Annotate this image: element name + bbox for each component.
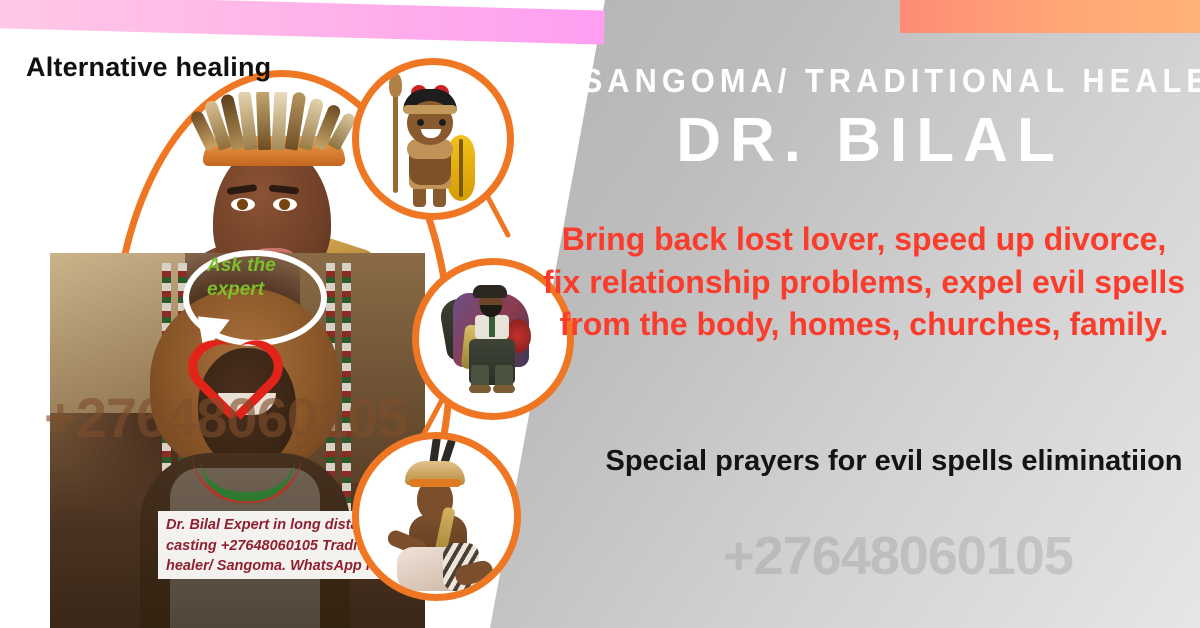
crouching-dancer-icon — [359, 439, 514, 594]
contact-watermark-phone: +27648060105 — [600, 525, 1196, 587]
poster-canvas: Alternative healing — [0, 0, 1200, 628]
special-offer-text: Special prayers for evil spells eliminat… — [600, 442, 1188, 481]
circle-zulu-warrior — [352, 58, 514, 220]
feather-headdress-icon — [195, 92, 360, 150]
orange-top-bar — [900, 0, 1200, 33]
services-text: Bring back lost lover, speed up divorce,… — [540, 218, 1188, 346]
page-title: Alternative healing — [26, 52, 271, 83]
healer-name: DR. BILAL — [560, 105, 1180, 176]
speech-bubble-label: Ask the expert — [207, 254, 312, 302]
header-kicker: SANGOMA/ TRADITIONAL HEALER — [582, 62, 1159, 100]
pink-top-bar — [0, 0, 605, 45]
zulu-warrior-icon — [359, 65, 507, 213]
circle-crouching-dancer — [352, 432, 521, 601]
